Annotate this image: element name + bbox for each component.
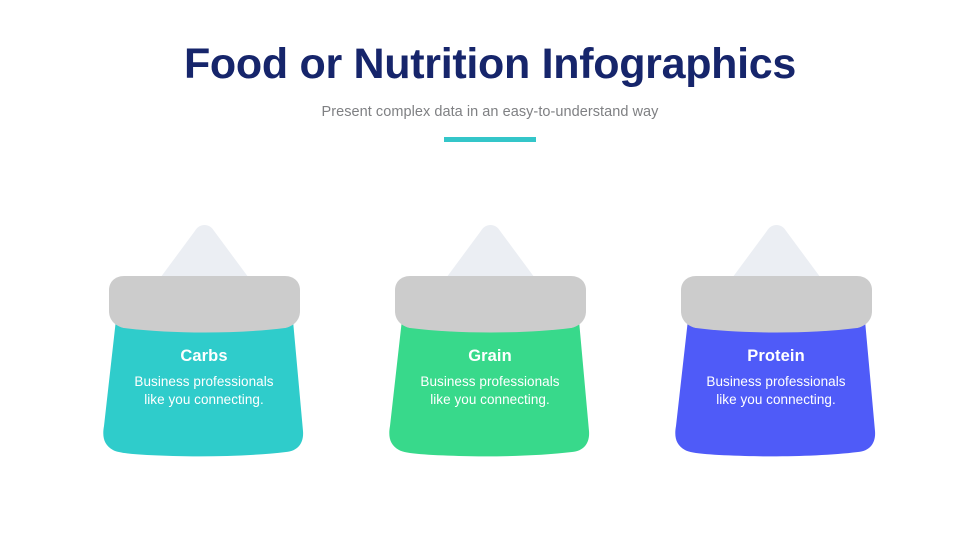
- sack-icon: [88, 216, 321, 459]
- sack-icon: [374, 216, 607, 459]
- infographic-slide: Food or Nutrition Infographics Present c…: [0, 0, 980, 551]
- page-subtitle: Present complex data in an easy-to-under…: [0, 102, 980, 122]
- sack-cards-row: Carbs Business professionals like you co…: [0, 216, 980, 466]
- sack-card-protein[interactable]: Protein Business professionals like you …: [660, 216, 893, 459]
- sack-collar-shape: [109, 276, 300, 333]
- slide-header: Food or Nutrition Infographics Present c…: [0, 36, 980, 142]
- sack-icon: [660, 216, 893, 459]
- sack-body-shape: [675, 315, 875, 456]
- title-accent-bar: [444, 137, 536, 142]
- sack-card-carbs[interactable]: Carbs Business professionals like you co…: [88, 216, 321, 459]
- page-title: Food or Nutrition Infographics: [0, 36, 980, 92]
- sack-card-grain[interactable]: Grain Business professionals like you co…: [374, 216, 607, 459]
- sack-body-shape: [103, 315, 303, 456]
- sack-collar-shape: [681, 276, 872, 333]
- sack-collar-shape: [395, 276, 586, 333]
- sack-body-shape: [389, 315, 589, 456]
